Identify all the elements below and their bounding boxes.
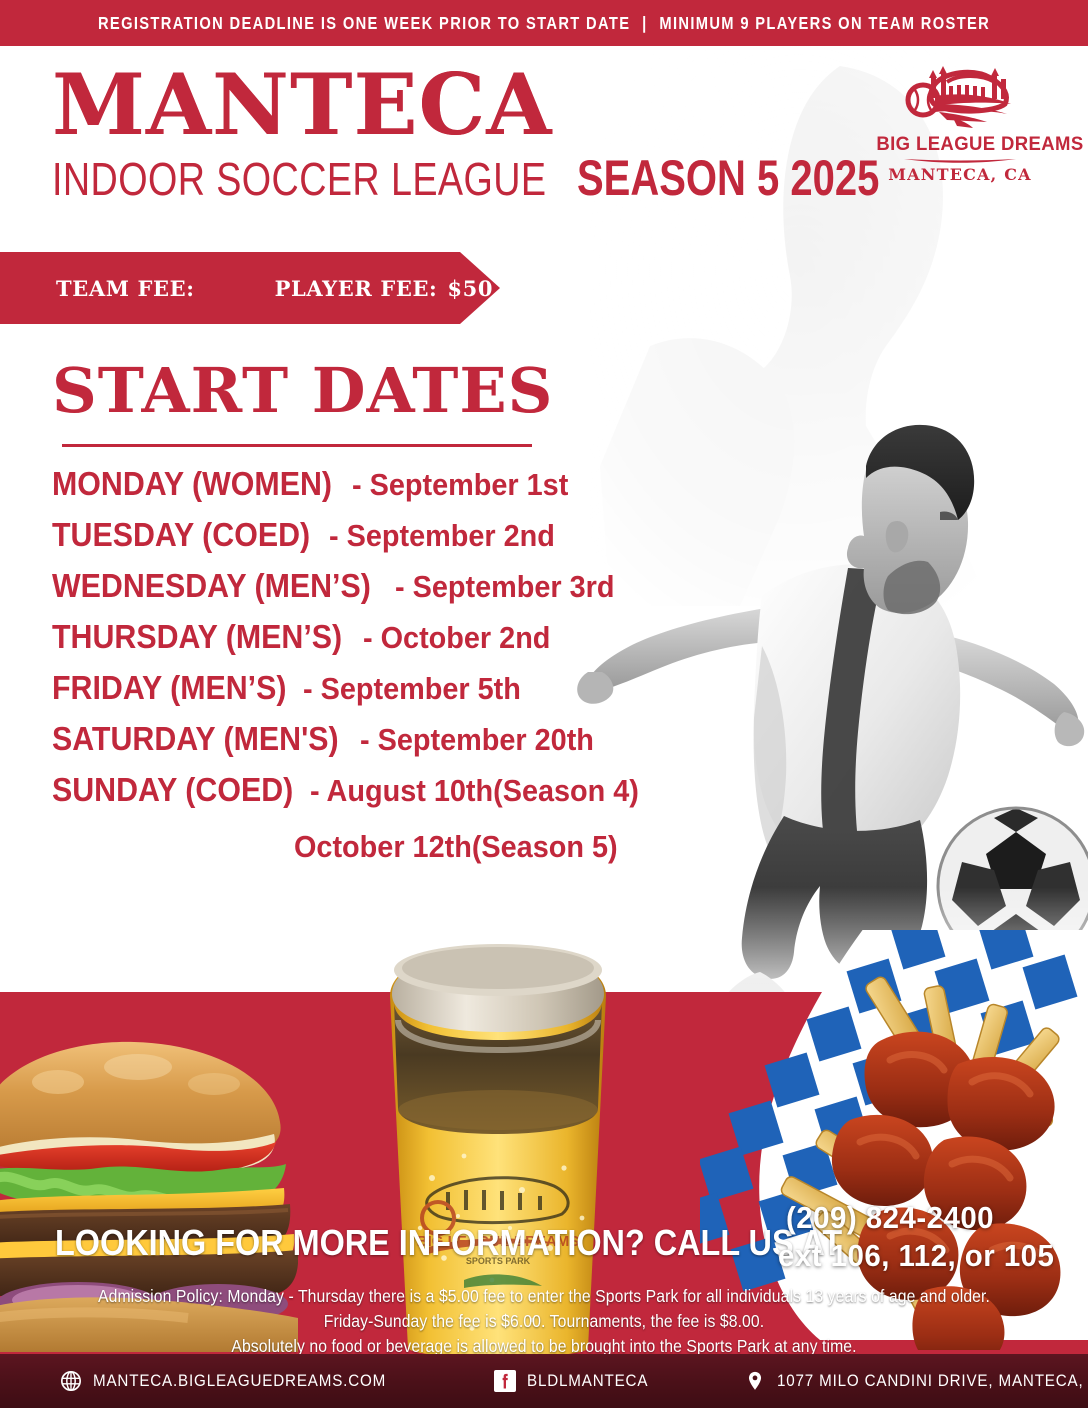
player-fee-value: $50	[447, 276, 493, 301]
start-date-when: - September 3rd	[395, 569, 614, 605]
start-date-when: - September 5th	[303, 671, 521, 707]
start-date-row: WEDNESDAY (MEN’S) - September 3rd	[52, 567, 672, 605]
start-date-row: THURSDAY (MEN’S) - October 2nd	[52, 618, 672, 656]
registration-deadline-text: REGISTRATION DEADLINE IS ONE WEEK PRIOR …	[98, 13, 630, 33]
topbar-separator: |	[630, 13, 659, 34]
admission-policy-line-1: Admission Policy: Monday - Thursday ther…	[54, 1284, 1033, 1309]
big-league-dreams-logo: BIG LEAGUE DREAMS MANTECA, CA	[872, 62, 1048, 184]
top-announcement-bar: REGISTRATION DEADLINE IS ONE WEEK PRIOR …	[0, 0, 1088, 46]
footer-facebook-item[interactable]: BLDLMANTECA	[494, 1370, 659, 1392]
start-date-day: SATURDAY (MEN'S)	[52, 720, 339, 758]
fee-banner: TEAM FEE: PLAYER FEE: $50	[0, 252, 500, 324]
flyer-page: REGISTRATION DEADLINE IS ONE WEEK PRIOR …	[0, 0, 1088, 1408]
team-fee-label: TEAM FEE:	[56, 276, 195, 301]
admission-policy-line-2: Friday-Sunday the fee is $6.00. Tourname…	[54, 1309, 1033, 1334]
footer-contact-bar: MANTECA.BIGLEAGUEDREAMS.COM BLDLMANTECA …	[0, 1354, 1088, 1408]
league-subtitle: INDOOR SOCCER LEAGUE	[52, 152, 546, 206]
season-label: SEASON 5 2025	[577, 149, 879, 207]
phone-extensions: ext 106, 112, or 105	[778, 1238, 1054, 1274]
start-dates-section: START DATES MONDAY (WOMEN) - September 1…	[52, 360, 672, 878]
minimum-players-text: MINIMUM 9 PLAYERS ON TEAM ROSTER	[659, 13, 990, 33]
start-date-row: TUESDAY (COED) - September 2nd	[52, 516, 672, 554]
start-date-row: FRIDAY (MEN’S) - September 5th	[52, 669, 672, 707]
start-date-day: FRIDAY (MEN’S)	[52, 669, 286, 707]
start-date-when: - October 2nd	[363, 620, 550, 656]
start-date-day: MONDAY (WOMEN)	[52, 465, 332, 503]
footer-address-item: 1077 MILO CANDINI DRIVE, MANTECA, CA 953…	[744, 1370, 1088, 1392]
logo-city-name: MANTECA, CA	[872, 165, 1048, 184]
start-dates-heading: START DATES	[52, 360, 672, 422]
stadium-baseball-icon	[895, 62, 1025, 130]
flyer-title-block: MANTECA INDOOR SOCCER LEAGUE SEASON 5 20…	[52, 66, 955, 207]
start-date-row: MONDAY (WOMEN) - September 1st	[52, 465, 672, 503]
globe-icon	[60, 1370, 82, 1392]
start-date-when: - September 2nd	[329, 518, 555, 554]
player-fee-label: PLAYER FEE:	[275, 276, 438, 301]
start-date-when: - September 20th	[360, 722, 594, 758]
start-date-when: - August 10th(Season 4)	[310, 773, 639, 809]
page-title: MANTECA	[52, 66, 955, 143]
admission-policy-block: Admission Policy: Monday - Thursday ther…	[0, 1284, 1088, 1359]
start-date-continuation-row: October 12th(Season 5)	[52, 829, 672, 865]
start-date-day: SUNDAY (COED)	[52, 771, 293, 809]
footer-website-item[interactable]: MANTECA.BIGLEAGUEDREAMS.COM	[60, 1370, 412, 1392]
footer-facebook-text: BLDLMANTECA	[527, 1372, 648, 1391]
start-date-when: - September 1st	[352, 467, 568, 503]
top-announcement-text: REGISTRATION DEADLINE IS ONE WEEK PRIOR …	[98, 13, 990, 34]
phone-block: (209) 824-2400 ext 106, 112, or 105	[786, 1200, 1069, 1274]
start-date-day: TUESDAY (COED)	[52, 516, 310, 554]
start-date-row: SUNDAY (COED) - August 10th(Season 4)	[52, 771, 672, 809]
call-to-action-text: LOOKING FOR MORE INFORMATION? CALL US AT	[55, 1222, 842, 1264]
location-pin-icon	[744, 1370, 766, 1392]
start-date-day: THURSDAY (MEN’S)	[52, 618, 342, 656]
footer-address-text: 1077 MILO CANDINI DRIVE, MANTECA, CA 953…	[777, 1372, 1088, 1391]
start-date-day: WEDNESDAY (MEN’S)	[52, 567, 371, 605]
start-dates-divider	[62, 444, 532, 447]
start-date-continuation: October 12th(Season 5)	[294, 829, 618, 865]
phone-number[interactable]: (209) 824-2400	[786, 1200, 1055, 1236]
start-date-row: SATURDAY (MEN'S) - September 20th	[52, 720, 672, 758]
facebook-icon	[494, 1370, 516, 1392]
footer-website-text: MANTECA.BIGLEAGUEDREAMS.COM	[93, 1372, 386, 1391]
logo-swoosh-icon	[900, 157, 1020, 164]
logo-brand-name: BIG LEAGUE DREAMS	[876, 133, 1043, 156]
